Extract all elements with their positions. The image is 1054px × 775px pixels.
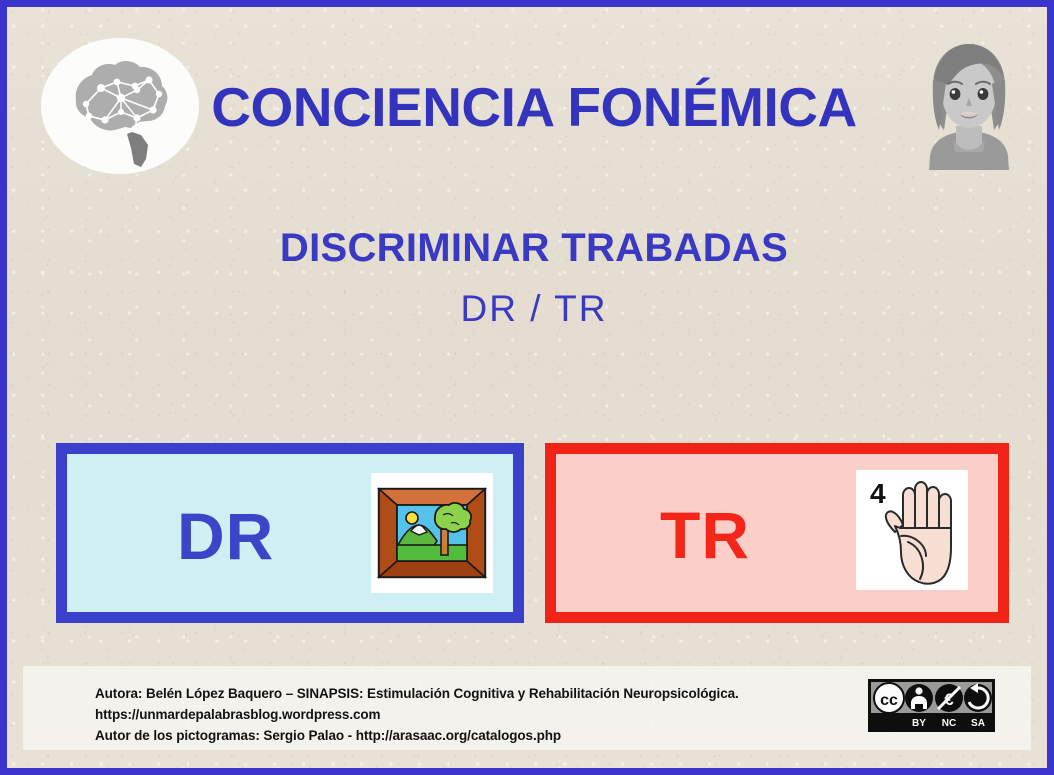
license-term-sa: SA <box>971 718 985 729</box>
footer-line-author: Autora: Belén López Baquero – SINAPSIS: … <box>95 683 739 704</box>
footer-band: Autora: Belén López Baquero – SINAPSIS: … <box>23 666 1031 750</box>
license-term-nc: NC <box>942 718 956 729</box>
footer-credits: Autora: Belén López Baquero – SINAPSIS: … <box>95 683 739 746</box>
slide-canvas: CONCIENCIA FONÉMICA DISCRIMINAR TRABADAS… <box>0 0 1054 775</box>
card-tr-label: TR <box>660 502 750 568</box>
card-dr-label: DR <box>177 503 274 569</box>
license-term-by: BY <box>912 718 926 729</box>
footer-line-blog-url[interactable]: https://unmardepalabrasblog.wordpress.co… <box>95 704 739 725</box>
hand-count-number: 4 <box>870 478 886 509</box>
footer-line-pictogram-author[interactable]: Autor de los pictogramas: Sergio Palao -… <box>95 725 739 746</box>
svg-text:cc: cc <box>880 692 898 709</box>
cc-by-nc-sa-icon: cc € BY NC SA <box>868 679 995 732</box>
subtitle-activity: DISCRIMINAR TRABADAS <box>7 226 1054 270</box>
framed-picture-icon <box>371 473 493 593</box>
card-dr[interactable]: DR <box>56 443 524 623</box>
card-tr[interactable]: TR 4 <box>545 443 1009 623</box>
subtitle-phoneme-pair: DR / TR <box>7 288 1054 330</box>
page-title: CONCIENCIA FONÉMICA <box>7 79 1054 137</box>
hand-four-fingers-icon: 4 <box>856 470 968 590</box>
